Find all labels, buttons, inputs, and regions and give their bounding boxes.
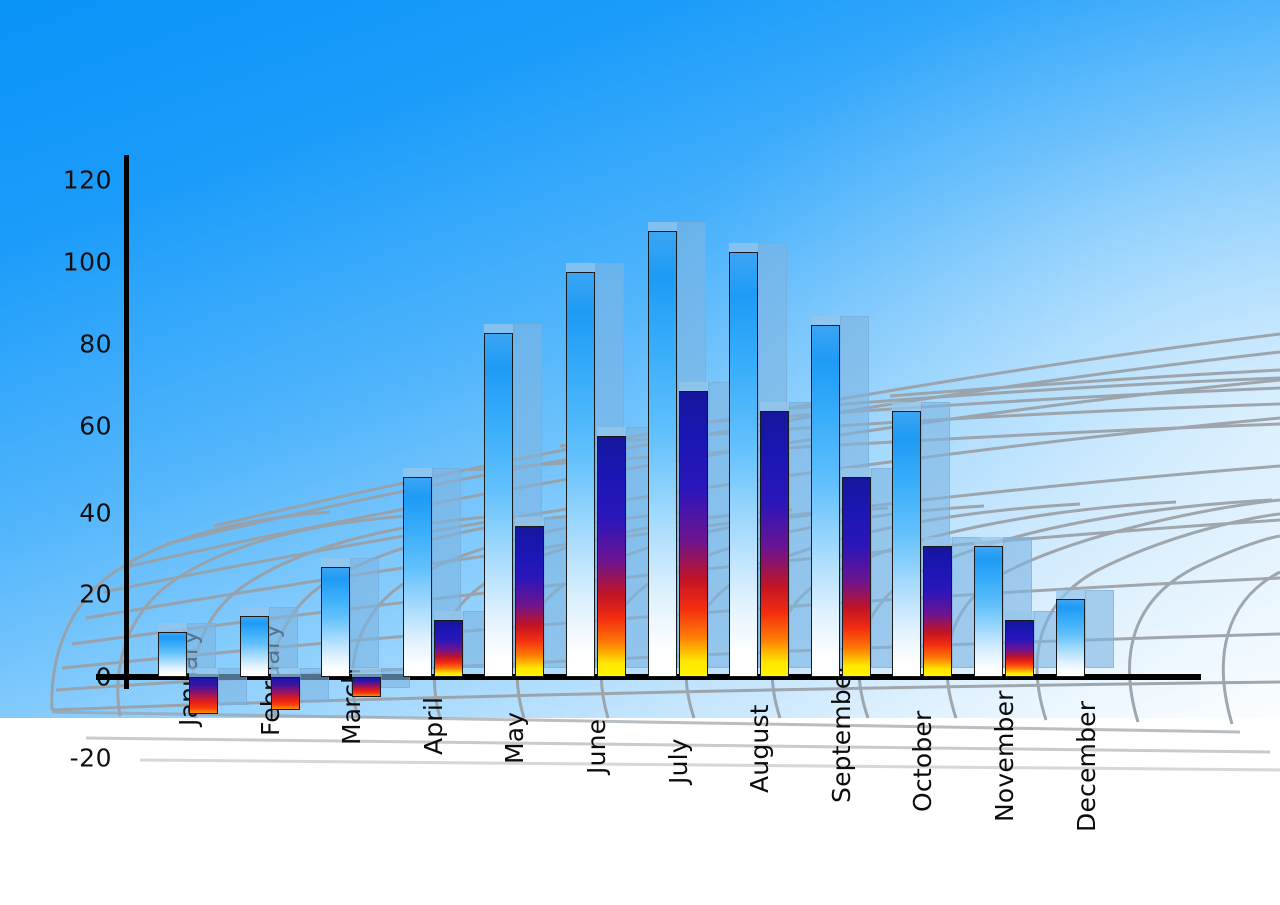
bar-top-face [403,468,432,477]
bar-top-face [484,324,513,333]
bar-june-series2 [597,436,626,677]
x-label-december: December [1072,700,1101,831]
bar-front-face [923,546,952,677]
bar-top-face [352,668,381,677]
bar-top-face [1005,611,1034,620]
bar-front-face [189,677,218,714]
bar-february-series1 [240,616,269,677]
bar-june-series1 [566,272,595,677]
bar-october-series2 [923,546,952,677]
bar-april-series1 [403,477,432,677]
bar-top-face [892,402,921,411]
bar-top-face [566,263,595,272]
bar-top-face [321,558,350,567]
bar-front-face [811,325,840,677]
bar-front-face [434,620,463,677]
bar-front-face [403,477,432,677]
bar-top-face [974,537,1003,546]
plot-area: 120 100 80 60 40 20 0 -20 JanuaryFebruar… [0,0,1280,905]
bar-front-face [158,632,187,677]
bar-top-face [1056,590,1085,599]
bar-front-face [1005,620,1034,677]
bar-top-face [842,468,871,477]
bar-front-face [679,391,708,677]
chart-canvas: 120 100 80 60 40 20 0 -20 JanuaryFebruar… [0,0,1280,905]
bar-front-face [729,252,758,677]
bar-top-face [271,668,300,677]
bar-front-face [240,616,269,677]
bar-may-series2 [515,526,544,677]
x-label-april: April [419,697,448,755]
bar-front-face [892,411,921,677]
bar-front-face [484,333,513,677]
bar-february-series2 [271,677,300,710]
bar-front-face [352,677,381,697]
bar-front-face [271,677,300,710]
bar-top-face [240,607,269,616]
bar-top-face [189,668,218,677]
bar-november-series2 [1005,620,1034,677]
bar-top-face [434,611,463,620]
bar-october-series1 [892,411,921,677]
bar-march-series1 [321,567,350,677]
bar-september-series2 [842,477,871,677]
bar-front-face [648,231,677,677]
bar-side-face [269,607,298,668]
bar-july-series1 [648,231,677,677]
bar-january-series1 [158,632,187,677]
bar-top-face [923,537,952,546]
bar-top-face [515,517,544,526]
bar-december-series1 [1056,599,1085,677]
bar-top-face [648,222,677,231]
bar-top-face [679,382,708,391]
bar-top-face [760,402,789,411]
bar-front-face [566,272,595,677]
bar-top-face [597,427,626,436]
bar-september-series1 [811,325,840,677]
bar-front-face [974,546,1003,677]
bar-front-face [597,436,626,677]
bar-august-series1 [729,252,758,677]
bar-may-series1 [484,333,513,677]
bar-front-face [760,411,789,677]
bar-top-face [729,243,758,252]
bar-march-series2 [352,677,381,697]
x-label-june: June [582,719,611,774]
x-label-september: September [827,663,856,803]
x-label-november: November [990,690,1019,822]
x-label-october: October [908,711,937,812]
x-label-may: May [500,712,529,764]
bar-july-series2 [679,391,708,677]
bar-august-series2 [760,411,789,677]
bar-front-face [1056,599,1085,677]
bar-side-face [187,623,216,668]
bar-april-series2 [434,620,463,677]
bar-front-face [321,567,350,677]
bar-top-face [811,316,840,325]
x-label-july: July [664,738,693,784]
bar-november-series1 [974,546,1003,677]
bar-front-face [515,526,544,677]
bar-side-face [1085,590,1114,668]
x-label-august: August [745,704,774,793]
bar-top-face [158,623,187,632]
bar-front-face [842,477,871,677]
bar-side-face [350,558,379,668]
bar-january-series2 [189,677,218,714]
